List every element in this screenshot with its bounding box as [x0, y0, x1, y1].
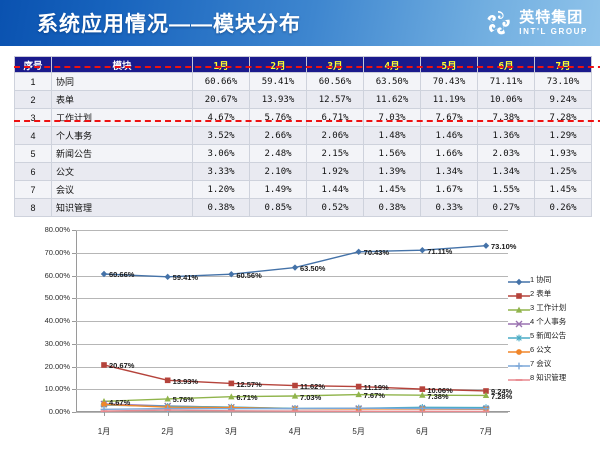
legend-item[interactable]: 7 会议: [508, 356, 598, 370]
table-col-header-2: 1月: [193, 57, 250, 73]
legend-item[interactable]: 3 工作计划: [508, 300, 598, 314]
cell-value-month-4: 0.38%: [364, 199, 421, 217]
legend-marker-icon: [508, 372, 530, 382]
legend-marker-icon: [508, 302, 530, 312]
y-tick-label: 60.00%: [24, 271, 70, 280]
legend-label: 5 新闻公告: [530, 330, 566, 341]
slide-title-bar: 系统应用情况——模块分布 英特集团 INT'L GROUP: [0, 0, 600, 46]
cell-index: 5: [15, 145, 52, 163]
cell-value-month-4: 63.50%: [364, 73, 421, 91]
legend-label: 8 知识管理: [530, 372, 566, 383]
y-tick-label: 0.00%: [24, 407, 70, 416]
data-label: 12.57%: [236, 380, 261, 389]
table-col-header-3: 2月: [250, 57, 307, 73]
legend-marker-icon: [508, 316, 530, 326]
x-tick-label: 2月: [148, 426, 188, 437]
cell-module-name: 表单: [52, 91, 193, 109]
cell-value-month-1: 3.52%: [193, 127, 250, 145]
cell-module-name: 协同: [52, 73, 193, 91]
page-title: 系统应用情况——模块分布: [37, 8, 301, 38]
x-tick: [486, 412, 487, 416]
cell-value-month-6: 1.55%: [478, 181, 535, 199]
cell-value-month-5: 70.43%: [421, 73, 478, 91]
table-row[interactable]: 7会议1.20%1.49%1.44%1.45%1.67%1.55%1.45%: [15, 181, 592, 199]
cell-value-month-1: 3.06%: [193, 145, 250, 163]
cell-index: 1: [15, 73, 52, 91]
table-row[interactable]: 1协同60.66%59.41%60.56%63.50%70.43%71.11%7…: [15, 73, 592, 91]
table-col-header-5: 4月: [364, 57, 421, 73]
table-row[interactable]: 6公文3.33%2.10%1.92%1.39%1.34%1.34%1.25%: [15, 163, 592, 181]
cell-value-month-2: 13.93%: [250, 91, 307, 109]
table-header-row: 序号模块1月2月3月4月5月6月7月: [15, 57, 592, 73]
cell-module-name: 个人事务: [52, 127, 193, 145]
data-label: 7.28%: [491, 392, 512, 401]
cell-value-month-2: 2.10%: [250, 163, 307, 181]
data-label: 71.11%: [427, 247, 452, 256]
cell-value-month-2: 2.48%: [250, 145, 307, 163]
cell-value-month-5: 1.34%: [421, 163, 478, 181]
y-tick-label: 20.00%: [24, 362, 70, 371]
cell-value-month-2: 2.66%: [250, 127, 307, 145]
cell-value-month-3: 1.44%: [307, 181, 364, 199]
y-tick: [72, 412, 76, 413]
data-label: 59.41%: [173, 273, 198, 282]
x-tick-label: 6月: [402, 426, 442, 437]
cell-value-month-1: 0.38%: [193, 199, 250, 217]
cell-index: 6: [15, 163, 52, 181]
logo-company-name-cn: 英特集团: [519, 10, 588, 25]
y-tick-label: 30.00%: [24, 339, 70, 348]
logo-company-name-en: INT'L GROUP: [519, 28, 588, 36]
cell-value-month-6: 71.11%: [478, 73, 535, 91]
cell-module-name: 公文: [52, 163, 193, 181]
legend-item[interactable]: 5 新闻公告: [508, 328, 598, 342]
table-col-header-6: 5月: [421, 57, 478, 73]
cell-value-month-4: 7.03%: [364, 109, 421, 127]
module-trend-chart: 60.66%59.41%60.56%63.50%70.43%71.11%73.1…: [8, 222, 592, 447]
cell-value-month-7: 0.26%: [535, 199, 592, 217]
module-distribution-table: 序号模块1月2月3月4月5月6月7月 1协同60.66%59.41%60.56%…: [14, 56, 592, 217]
data-label: 60.66%: [109, 270, 134, 279]
chart-plot-area: 60.66%59.41%60.56%63.50%70.43%71.11%73.1…: [76, 230, 508, 412]
cell-value-month-2: 59.41%: [250, 73, 307, 91]
slide-root: 系统应用情况——模块分布 英特集团 INT'L GROUP: [0, 0, 600, 453]
data-label: 7.38%: [427, 392, 448, 401]
legend-item[interactable]: 2 表单: [508, 286, 598, 300]
data-label: 5.76%: [173, 395, 194, 404]
cell-value-month-3: 1.92%: [307, 163, 364, 181]
y-tick-label: 10.00%: [24, 384, 70, 393]
module-distribution-table-wrap: 序号模块1月2月3月4月5月6月7月 1协同60.66%59.41%60.56%…: [14, 56, 586, 217]
legend-marker-icon: [508, 274, 530, 284]
y-tick-label: 70.00%: [24, 248, 70, 257]
cell-value-month-6: 0.27%: [478, 199, 535, 217]
legend-item[interactable]: 6 公文: [508, 342, 598, 356]
cell-module-name: 知识管理: [52, 199, 193, 217]
cell-value-month-6: 1.36%: [478, 127, 535, 145]
cell-value-month-5: 0.33%: [421, 199, 478, 217]
table-col-header-0: 序号: [15, 57, 52, 73]
data-label: 70.43%: [364, 248, 389, 257]
table-col-header-7: 6月: [478, 57, 535, 73]
table-body: 1协同60.66%59.41%60.56%63.50%70.43%71.11%7…: [15, 73, 592, 217]
legend-label: 2 表单: [530, 288, 551, 299]
legend-marker-icon: [508, 358, 530, 368]
cell-value-month-5: 1.66%: [421, 145, 478, 163]
cell-value-month-2: 5.76%: [250, 109, 307, 127]
cell-value-month-5: 1.67%: [421, 181, 478, 199]
cell-value-month-3: 6.71%: [307, 109, 364, 127]
cell-value-month-1: 60.66%: [193, 73, 250, 91]
cell-value-month-7: 7.28%: [535, 109, 592, 127]
legend-item[interactable]: 8 知识管理: [508, 370, 598, 384]
cell-value-month-6: 1.34%: [478, 163, 535, 181]
company-logo-icon: [483, 8, 513, 38]
x-tick: [104, 412, 105, 416]
data-label: 11.62%: [300, 382, 325, 391]
data-label: 4.67%: [109, 398, 130, 407]
cell-value-month-4: 1.39%: [364, 163, 421, 181]
cell-value-month-3: 0.52%: [307, 199, 364, 217]
cell-index: 3: [15, 109, 52, 127]
cell-value-month-4: 1.56%: [364, 145, 421, 163]
cell-module-name: 工作计划: [52, 109, 193, 127]
cell-index: 2: [15, 91, 52, 109]
cell-index: 8: [15, 199, 52, 217]
cell-value-month-3: 2.06%: [307, 127, 364, 145]
cell-value-month-4: 1.45%: [364, 181, 421, 199]
cell-value-month-6: 2.03%: [478, 145, 535, 163]
cell-value-month-2: 1.49%: [250, 181, 307, 199]
cell-value-month-5: 7.67%: [421, 109, 478, 127]
cell-value-month-4: 1.48%: [364, 127, 421, 145]
cell-value-month-7: 1.93%: [535, 145, 592, 163]
cell-index: 7: [15, 181, 52, 199]
data-label: 73.10%: [491, 242, 516, 251]
legend-item[interactable]: 4 个人事务: [508, 314, 598, 328]
legend-marker-icon: [508, 330, 530, 340]
legend-marker-icon: [508, 288, 530, 298]
cell-value-month-3: 60.56%: [307, 73, 364, 91]
cell-value-month-6: 10.06%: [478, 91, 535, 109]
x-tick-label: 5月: [339, 426, 379, 437]
legend-label: 6 公文: [530, 344, 551, 355]
x-tick: [231, 412, 232, 416]
x-tick: [422, 412, 423, 416]
legend-label: 4 个人事务: [530, 316, 566, 327]
cell-module-name: 会议: [52, 181, 193, 199]
data-label: 20.67%: [109, 361, 134, 370]
cell-value-month-5: 1.46%: [421, 127, 478, 145]
cell-value-month-7: 1.45%: [535, 181, 592, 199]
table-header: 序号模块1月2月3月4月5月6月7月: [15, 57, 592, 73]
x-tick-label: 3月: [211, 426, 251, 437]
legend-item[interactable]: 1 协同: [508, 272, 598, 286]
legend-label: 3 工作计划: [530, 302, 566, 313]
cell-value-month-2: 0.85%: [250, 199, 307, 217]
cell-value-month-7: 1.29%: [535, 127, 592, 145]
table-row[interactable]: 3工作计划4.67%5.76%6.71%7.03%7.67%7.38%7.28%: [15, 109, 592, 127]
cell-value-month-1: 20.67%: [193, 91, 250, 109]
x-tick-label: 4月: [275, 426, 315, 437]
legend-label: 1 协同: [530, 274, 551, 285]
cell-value-month-1: 1.20%: [193, 181, 250, 199]
table-row[interactable]: 8知识管理0.38%0.85%0.52%0.38%0.33%0.27%0.26%: [15, 199, 592, 217]
brand-logo: 英特集团 INT'L GROUP: [483, 8, 588, 38]
cell-value-month-6: 7.38%: [478, 109, 535, 127]
cell-value-month-3: 12.57%: [307, 91, 364, 109]
x-tick: [359, 412, 360, 416]
data-label: 7.03%: [300, 393, 321, 402]
table-row[interactable]: 4个人事务3.52%2.66%2.06%1.48%1.46%1.36%1.29%: [15, 127, 592, 145]
chart-legend: 1 协同2 表单3 工作计划4 个人事务5 新闻公告6 公文7 会议8 知识管理: [508, 272, 598, 384]
data-label: 63.50%: [300, 264, 325, 273]
cell-value-month-4: 11.62%: [364, 91, 421, 109]
y-tick-label: 80.00%: [24, 225, 70, 234]
cell-module-name: 新闻公告: [52, 145, 193, 163]
gridline: [76, 412, 508, 413]
table-col-header-8: 7月: [535, 57, 592, 73]
y-tick-label: 50.00%: [24, 293, 70, 302]
table-col-header-4: 3月: [307, 57, 364, 73]
legend-label: 7 会议: [530, 358, 551, 369]
cell-value-month-7: 9.24%: [535, 91, 592, 109]
table-col-header-1: 模块: [52, 57, 193, 73]
data-label: 13.93%: [173, 377, 198, 386]
cell-value-month-7: 1.25%: [535, 163, 592, 181]
cell-index: 4: [15, 127, 52, 145]
cell-value-month-7: 73.10%: [535, 73, 592, 91]
cell-value-month-3: 2.15%: [307, 145, 364, 163]
data-label: 60.56%: [236, 271, 261, 280]
x-tick-label: 1月: [84, 426, 124, 437]
cell-value-month-1: 3.33%: [193, 163, 250, 181]
cell-value-month-1: 4.67%: [193, 109, 250, 127]
table-row[interactable]: 5新闻公告3.06%2.48%2.15%1.56%1.66%2.03%1.93%: [15, 145, 592, 163]
table-row[interactable]: 2表单20.67%13.93%12.57%11.62%11.19%10.06%9…: [15, 91, 592, 109]
data-label: 7.67%: [364, 391, 385, 400]
x-tick: [168, 412, 169, 416]
y-tick-label: 40.00%: [24, 316, 70, 325]
data-label: 6.71%: [236, 393, 257, 402]
x-tick-label: 7月: [466, 426, 506, 437]
x-tick: [295, 412, 296, 416]
legend-marker-icon: [508, 344, 530, 354]
cell-value-month-5: 11.19%: [421, 91, 478, 109]
